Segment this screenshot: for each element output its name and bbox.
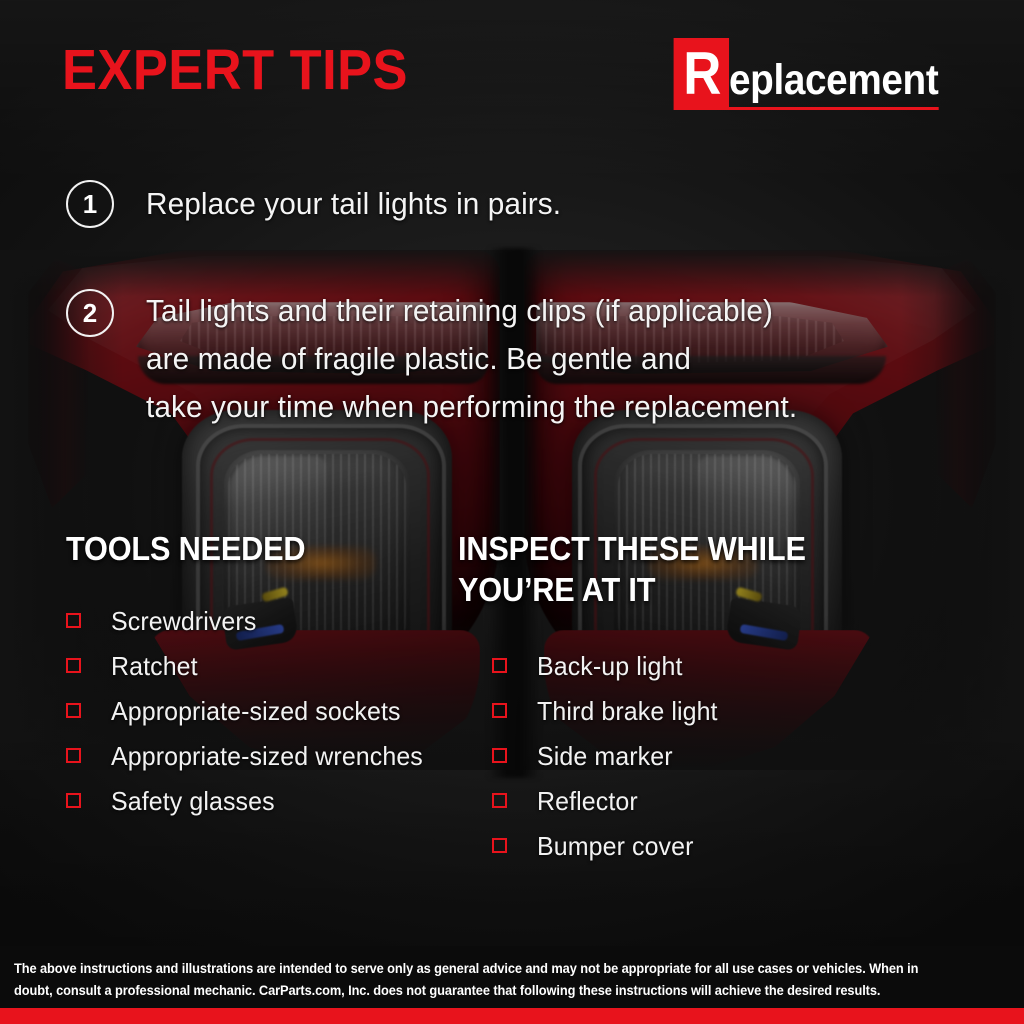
tools-needed-heading: TOOLS NEEDED [66,528,305,569]
list-item[interactable]: Screwdrivers [66,598,436,643]
checkbox-icon[interactable] [492,658,507,673]
checkbox-icon[interactable] [492,838,507,853]
list-item[interactable]: Bumper cover [492,823,725,868]
logo-initial: R [674,38,730,110]
inspect-these-heading: INSPECT THESE WHILE YOU’RE AT IT [458,528,830,610]
list-item-label: Safety glasses [111,786,275,816]
checkbox-icon[interactable] [66,748,81,763]
tip-number-badge: 2 [66,289,114,337]
list-item[interactable]: Appropriate-sized wrenches [66,733,436,778]
list-item[interactable]: Side marker [492,733,725,778]
checkbox-icon[interactable] [66,703,81,718]
list-item[interactable]: Reflector [492,778,725,823]
tip-item-1: 1 Replace your tail lights in pairs. [66,180,578,228]
list-item-label: Appropriate-sized wrenches [111,741,423,771]
list-item[interactable]: Ratchet [66,643,436,688]
list-item[interactable]: Back-up light [492,643,725,688]
list-item[interactable]: Third brake light [492,688,725,733]
tip-text: Replace your tail lights in pairs. [146,180,561,228]
tip-text: Tail lights and their retaining clips (i… [146,287,797,431]
list-item-label: Side marker [537,741,673,771]
expert-tips-infographic: EXPERT TIPS R eplacement 1 Replace your … [0,0,1024,1024]
checkbox-icon[interactable] [66,793,81,808]
tip-number-badge: 1 [66,180,114,228]
checkbox-icon[interactable] [492,703,507,718]
page-title: EXPERT TIPS [62,42,408,99]
tools-needed-list: Screwdrivers Ratchet Appropriate-sized s… [66,598,436,823]
footer-accent-bar [0,1008,1024,1024]
list-item-label: Third brake light [537,696,718,726]
tip-item-2: 2 Tail lights and their retaining clips … [66,287,824,431]
list-item-label: Ratchet [111,651,198,681]
inspect-these-list: Back-up light Third brake light Side mar… [492,643,725,868]
content-layer: EXPERT TIPS R eplacement 1 Replace your … [0,0,1024,1024]
list-item-label: Back-up light [537,651,683,681]
checkbox-icon[interactable] [66,658,81,673]
list-item[interactable]: Appropriate-sized sockets [66,688,436,733]
list-item-label: Screwdrivers [111,606,256,636]
checkbox-icon[interactable] [492,793,507,808]
list-item-label: Appropriate-sized sockets [111,696,401,726]
list-item[interactable]: Safety glasses [66,778,436,823]
brand-logo: R eplacement [666,44,962,110]
checkbox-icon[interactable] [492,748,507,763]
footer-disclaimer: The above instructions and illustrations… [14,958,960,1002]
logo-wordmark: eplacement [729,57,938,110]
list-item-label: Bumper cover [537,831,694,861]
checkbox-icon[interactable] [66,613,81,628]
list-item-label: Reflector [537,786,638,816]
